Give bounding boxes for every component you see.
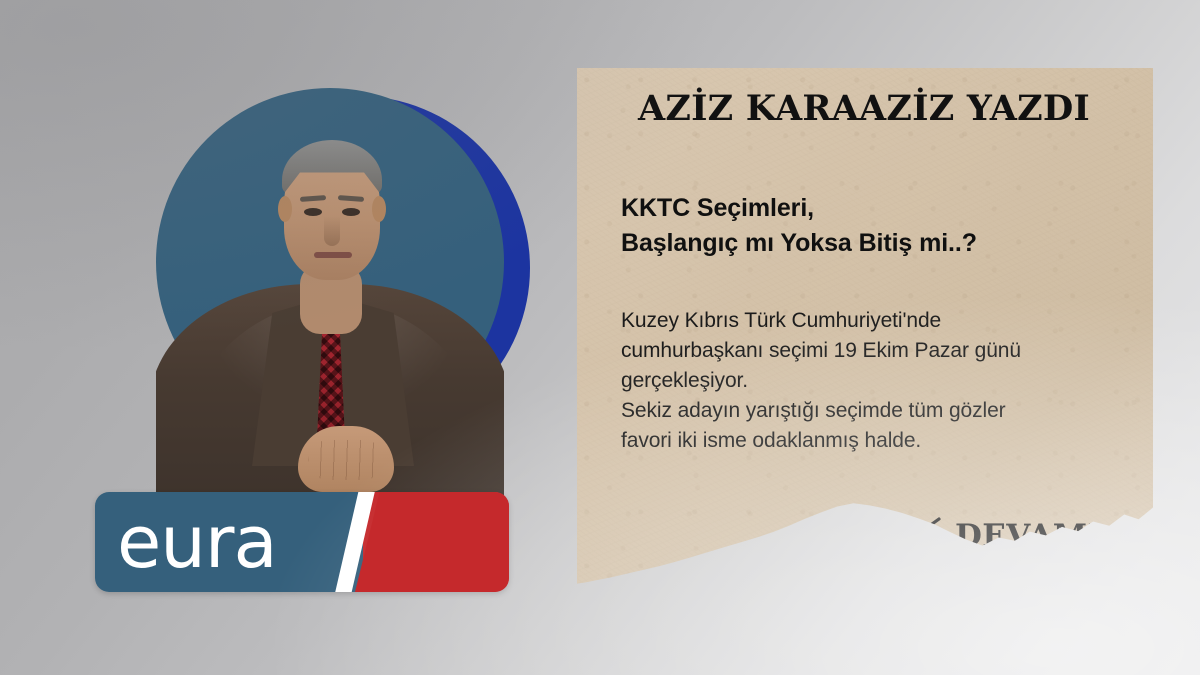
portrait-eye-right — [342, 208, 360, 216]
read-more-label: DEVAMI... — [955, 521, 1136, 552]
card-content: AZİZ KARAAZİZ YAZDI KKTC Seçimleri, Başl… — [577, 68, 1153, 457]
page-title: AZİZ KARAAZİZ YAZDI — [603, 90, 1125, 129]
portrait-ear-right — [372, 196, 386, 222]
body-line-2: cumhurbaşkanı seçimi 19 Ekim Pazar günü — [621, 336, 1125, 366]
article-body: Kuzey Kıbrıs Türk Cumhuriyeti'nde cumhur… — [621, 306, 1125, 457]
subheadline-line-1: KKTC Seçimleri, — [621, 191, 1125, 227]
portrait-mouth — [314, 252, 352, 258]
avatar — [156, 88, 504, 508]
logo-wordmark: eura — [95, 506, 277, 578]
portrait-eye-left — [304, 208, 322, 216]
body-line-3: gerçekleşiyor. — [621, 366, 1125, 396]
logo-word-panel: eura — [95, 492, 363, 592]
promo-card-canvas: eura 24 AZİZ KARAAZİZ YAZDI KKTC Seçimle… — [0, 0, 1200, 675]
portrait-composition: eura 24 — [0, 0, 560, 675]
body-line-4: Sekiz adayın yarıştığı seçimde tüm gözle… — [621, 396, 1125, 426]
subheadline-line-2: Başlangıç mı Yoksa Bitiş mi..? — [621, 226, 1125, 262]
body-line-1: Kuzey Kıbrıs Türk Cumhuriyeti'nde — [621, 306, 1125, 336]
read-more-cta[interactable]: DEVAMI... — [889, 516, 1136, 556]
torn-paper-card: AZİZ KARAAZİZ YAZDI KKTC Seçimleri, Başl… — [577, 68, 1153, 604]
article-subheadline: KKTC Seçimleri, Başlangıç mı Yoksa Bitiş… — [621, 191, 1125, 262]
portrait-ear-left — [278, 196, 292, 222]
eura24-logo[interactable]: eura 24 — [95, 492, 509, 592]
portrait-finger-lines — [308, 440, 384, 480]
logo-red-panel — [355, 492, 509, 592]
click-cursor-icon — [889, 516, 943, 556]
portrait-clip — [156, 88, 504, 508]
body-line-5: favori iki isme odaklanmış halde. — [621, 426, 1125, 456]
portrait-nose — [324, 216, 340, 246]
